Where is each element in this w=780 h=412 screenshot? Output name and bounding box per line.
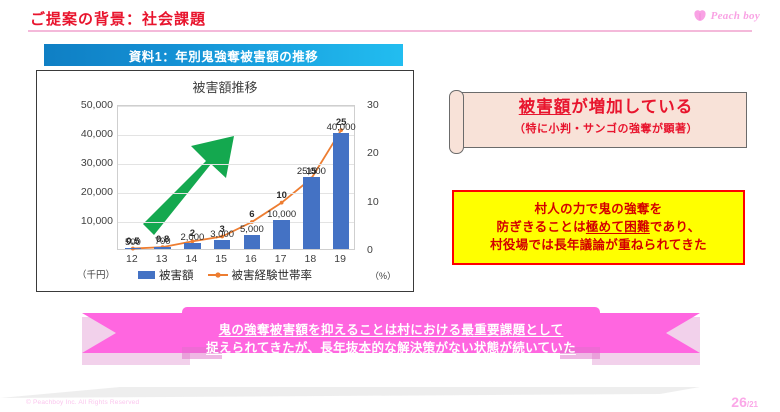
chart-bar-label: 10,000 bbox=[267, 209, 296, 220]
legend-label-line: 被害経験世帯率 bbox=[232, 267, 313, 283]
chart-gridline bbox=[118, 135, 354, 136]
legend-item-line: 被害経験世帯率 bbox=[208, 267, 313, 283]
scroll-callout-line1-rest: が増加している bbox=[571, 98, 693, 116]
chart-line-label: 2 bbox=[190, 228, 195, 239]
chart-bar bbox=[333, 133, 349, 249]
chart-x-tick: 17 bbox=[275, 253, 287, 265]
chart-y-tick-left: 50,000 bbox=[81, 99, 113, 111]
chart-y-axis-right: 0102030 bbox=[367, 105, 397, 250]
legend-label-bar: 被害額 bbox=[159, 267, 194, 283]
chart-x-axis: 1213141516171819 bbox=[117, 253, 355, 267]
chart-bar bbox=[125, 248, 141, 250]
scroll-callout-text: 被害額が増加している （特に小判・サンゴの強奪が顕著） bbox=[471, 98, 741, 136]
chart-y-tick-left: 40,000 bbox=[81, 128, 113, 140]
chart-bar bbox=[154, 247, 170, 249]
chart-y-tick-right: 0 bbox=[367, 244, 373, 256]
yellow-callout-line2: 防ぎきることは極めて困難であり、 bbox=[497, 219, 701, 236]
chart-bar bbox=[184, 243, 200, 249]
scroll-callout-roll bbox=[449, 90, 464, 154]
page-number-total: /21 bbox=[747, 400, 758, 409]
chart-x-tick: 12 bbox=[126, 253, 138, 265]
page-number: 26/21 bbox=[731, 394, 758, 412]
chart-legend: 被害額 被害経験世帯率 bbox=[37, 267, 413, 283]
chart-y-tick-right: 30 bbox=[367, 99, 379, 111]
chart-line-label: 6 bbox=[249, 209, 254, 220]
chart-gridline bbox=[118, 106, 354, 107]
yellow-callout-line3: 村役場では長年議論が重ねられてきた bbox=[490, 237, 707, 254]
yellow-callout-line1: 村人の力で鬼の強奪を bbox=[534, 201, 662, 218]
chart-bar bbox=[303, 177, 319, 250]
legend-bar-swatch bbox=[138, 271, 155, 279]
yellow-callout-line2-c: であり、 bbox=[650, 220, 701, 234]
summary-ribbon-line1: 鬼の強奪被害額を抑えることは村における最重要課題として bbox=[142, 321, 640, 339]
chart-y-tick-left: 30,000 bbox=[81, 157, 113, 169]
exhibit-caption-label: 資料1：年別鬼強奪被害額の推移 bbox=[129, 46, 318, 65]
scroll-callout-emphasis: 被害額 bbox=[519, 98, 572, 116]
chart-y-tick-left: 20,000 bbox=[81, 186, 113, 198]
chart-line-label: 0.5 bbox=[126, 236, 139, 247]
chart-line-series bbox=[118, 106, 356, 251]
chart-x-tick: 16 bbox=[245, 253, 257, 265]
chart-x-tick: 14 bbox=[186, 253, 198, 265]
chart-bar bbox=[244, 235, 260, 250]
legend-item-bar: 被害額 bbox=[138, 267, 194, 283]
title-divider bbox=[28, 30, 752, 32]
chart-title: 被害額推移 bbox=[37, 77, 413, 96]
summary-ribbon-text: 鬼の強奪被害額を抑えることは村における最重要課題として 捉えられてきたが、長年抜… bbox=[142, 321, 640, 357]
footer-swoosh bbox=[0, 386, 780, 398]
yellow-callout: 村人の力で鬼の強奪を 防ぎきることは極めて困難であり、 村役場では長年議論が重ね… bbox=[452, 190, 745, 265]
chart-x-tick: 18 bbox=[305, 253, 317, 265]
chart-bar bbox=[214, 240, 230, 249]
peach-icon bbox=[693, 9, 707, 23]
chart-line-point bbox=[280, 201, 284, 205]
chart-y-axis-left: 10,00020,00030,00040,00050,000 bbox=[61, 105, 113, 250]
chart-line-label: 25 bbox=[336, 117, 347, 128]
scroll-callout: 被害額が増加している （特に小判・サンゴの強奪が顕著） bbox=[445, 86, 751, 158]
chart-x-tick: 19 bbox=[334, 253, 346, 265]
chart-y-tick-right: 20 bbox=[367, 147, 379, 159]
yellow-callout-line2-a: 防ぎきることは bbox=[497, 220, 586, 234]
logo-text: Peach boy bbox=[711, 10, 760, 22]
chart-bar bbox=[273, 220, 289, 249]
page-title: ご提案の背景：社会課題 bbox=[30, 8, 206, 29]
chart-line-label: 3 bbox=[219, 224, 224, 235]
chart-container: 被害額推移 10,00020,00030,00040,00050,000 010… bbox=[36, 70, 414, 292]
exhibit-caption-bar: 資料1：年別鬼強奪被害額の推移 bbox=[44, 44, 403, 66]
legend-line-swatch bbox=[208, 270, 228, 280]
page-number-current: 26 bbox=[731, 394, 747, 410]
copyright-text: © Peachboy Inc. All Rights Reserved bbox=[26, 399, 139, 406]
summary-ribbon: 鬼の強奪被害額を抑えることは村における最重要課題として 捉えられてきたが、長年抜… bbox=[82, 307, 700, 369]
scroll-callout-line2: （特に小判・サンゴの強奪が顕著） bbox=[471, 120, 741, 136]
chart-y-tick-right: 10 bbox=[367, 196, 379, 208]
chart-bar-label: 5,000 bbox=[240, 224, 264, 235]
chart-line-label: 10 bbox=[276, 190, 287, 201]
brand-logo: Peach boy bbox=[693, 9, 760, 23]
chart-x-tick: 13 bbox=[156, 253, 168, 265]
summary-ribbon-line2: 捉えられてきたが、長年抜本的な解決策がない状態が続いていた bbox=[142, 339, 640, 357]
chart-plot-area: 5007002,0003,0005,00010,00025,00040,0000… bbox=[117, 105, 355, 250]
chart-y-tick-left: 10,000 bbox=[81, 215, 113, 227]
chart-x-tick: 15 bbox=[215, 253, 227, 265]
chart-line-label: 0.8 bbox=[156, 234, 169, 245]
chart-line-label: 15 bbox=[306, 166, 317, 177]
yellow-callout-line2-emphasis: 極めて困難 bbox=[586, 220, 650, 234]
